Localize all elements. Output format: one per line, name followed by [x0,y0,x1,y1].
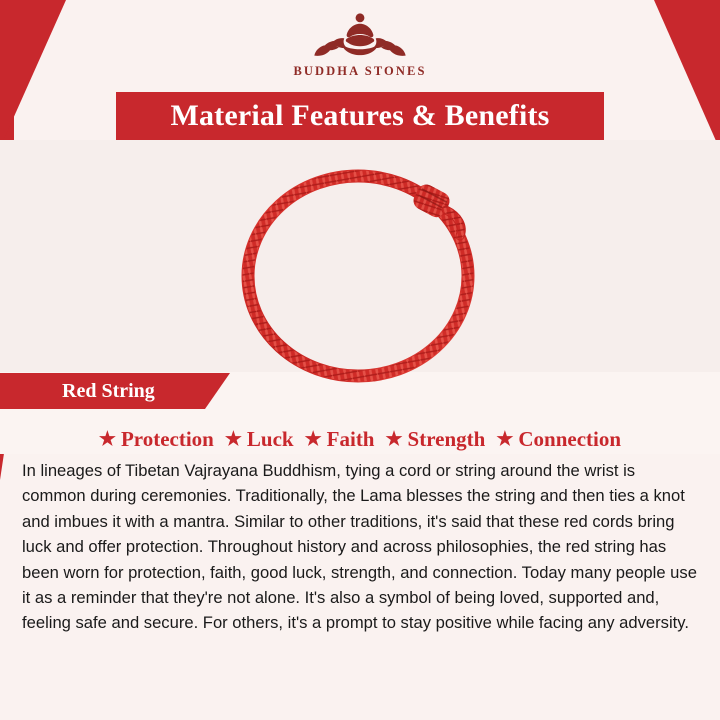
description-paragraph: In lineages of Tibetan Vajrayana Buddhis… [22,458,698,636]
benefit-label: Connection [518,427,621,452]
star-icon: ★ [496,430,513,449]
benefit-item-connection: ★ Connection [485,427,621,452]
benefit-label: Protection [121,427,214,452]
title-banner: Material Features & Benefits [116,92,604,140]
product-label-tab: Red String [0,373,230,409]
bottom-band [0,708,720,720]
benefit-label: Faith [327,427,375,452]
page-title: Material Features & Benefits [170,99,549,133]
product-label-text: Red String [0,380,155,403]
red-braided-string-bracelet-icon [210,158,510,393]
star-icon: ★ [225,430,242,449]
star-icon: ★ [386,430,403,449]
benefit-item-strength: ★ Strength [375,427,486,452]
star-icon: ★ [99,430,116,449]
brand-logo-area: BUDDHA STONES [0,8,720,92]
infographic-page: BUDDHA STONES Material Features & Benefi… [0,0,720,720]
benefit-label: Strength [408,427,486,452]
brand-name: BUDDHA STONES [293,64,426,79]
benefit-item-luck: ★ Luck [214,427,294,452]
benefit-label: Luck [247,427,294,452]
lotus-meditation-figure-icon [306,8,414,62]
benefit-item-faith: ★ Faith [294,427,375,452]
product-image [0,150,720,400]
star-icon: ★ [305,430,322,449]
benefits-row: ★ Protection ★ Luck ★ Faith ★ Strength ★… [0,420,720,458]
benefit-item-protection: ★ Protection [99,427,214,452]
